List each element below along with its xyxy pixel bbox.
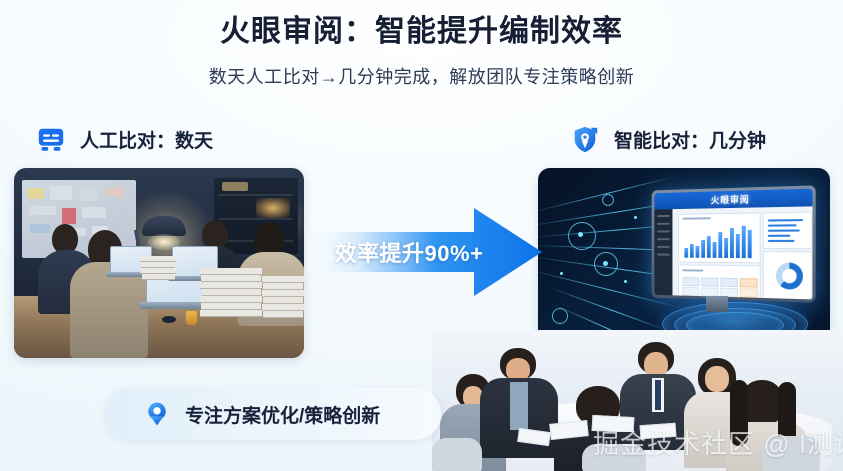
focus-banner: 专注方案优化/策略创新 (105, 388, 441, 440)
smart-shield-pin-icon (570, 124, 600, 154)
arrow-label: 效率提升90%+ (306, 206, 512, 298)
efficiency-arrow: 效率提升90%+ (306, 206, 542, 298)
late-night-office-photo (14, 168, 304, 358)
dashboard-header-bar: 火眼审阅 (654, 189, 812, 210)
page-title: 火眼审阅：智能提升编制效率 (0, 14, 843, 50)
left-column-caption: 人工比对：数天 (36, 122, 213, 156)
right-caption-label: 智能比对：几分钟 (614, 126, 766, 153)
manual-compare-icon (36, 124, 66, 154)
focus-banner-label: 专注方案优化/策略创新 (185, 401, 380, 428)
dashboard-title: 火眼审阅 (711, 192, 750, 206)
team-meeting-photo (432, 330, 843, 471)
page-subtitle: 数天人工比对→几分钟完成，解放团队专注策略创新 (0, 63, 843, 89)
dashboard-monitor: 火眼审阅 (652, 185, 816, 302)
location-pin-icon (143, 400, 171, 428)
slide-canvas: 火眼审阅：智能提升编制效率 数天人工比对→几分钟完成，解放团队专注策略创新 人工… (0, 0, 843, 471)
right-column-caption: 智能比对：几分钟 (570, 122, 766, 156)
left-caption-label: 人工比对：数天 (80, 126, 213, 153)
